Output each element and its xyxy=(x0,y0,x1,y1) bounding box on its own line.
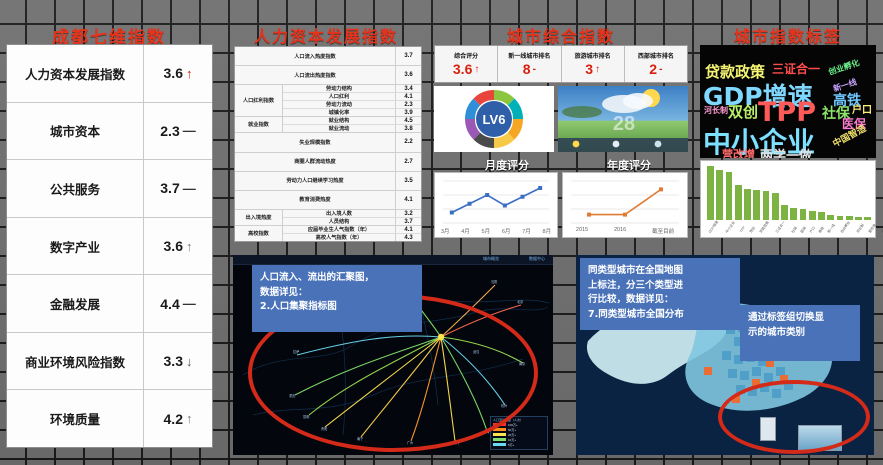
human-capital-value: 4.1 xyxy=(396,226,421,233)
panel-title-city-tags: 城市指数标签 xyxy=(700,23,876,47)
callout-tag-switch: 通过标签组切换显 示的城市类别 xyxy=(740,305,860,361)
bar-x-label: TPP xyxy=(739,226,747,234)
weather-temperature: 28 xyxy=(613,113,635,135)
bar-x-label: 医保 xyxy=(799,225,807,233)
bar-x-label: 高铁 xyxy=(817,225,825,233)
human-capital-group-rows: 应届毕业生人气指数（年）4.1高校人气指数（年）4.3 xyxy=(283,226,421,241)
human-capital-label: 就业结构 xyxy=(283,117,396,124)
x-axis-labels: 20152016截至目前 xyxy=(563,227,687,235)
human-capital-value: 4.5 xyxy=(396,117,421,124)
trend-flat-icon: - xyxy=(533,64,536,75)
data-point xyxy=(485,193,489,197)
kpi-number: 3 xyxy=(585,61,593,77)
word-cloud-tag[interactable]: 户口 xyxy=(852,101,872,116)
word-cloud-tag[interactable]: 三证合一 xyxy=(772,60,820,77)
kpi-header: 旅游城市排名 xyxy=(575,51,611,60)
human-capital-group: 出入境热度出入境人数3.2人员结构3.7 xyxy=(235,210,421,226)
chengdu-index-name: 数字产业 xyxy=(7,218,144,275)
chengdu-index-name: 公共服务 xyxy=(7,160,144,217)
bar-x-label: 双创 xyxy=(748,225,756,233)
trend-flat-icon: — xyxy=(183,297,196,310)
monthly-score-header: 月度评分 xyxy=(452,157,562,173)
chengdu-index-number: 3.7 xyxy=(160,180,179,196)
callout-migration-line1: 人口流入、流出的汇聚图， xyxy=(260,271,414,286)
bar-x-label: 新一线 xyxy=(826,223,836,234)
bar-x-label: 中小企业 xyxy=(724,220,736,234)
bar xyxy=(744,189,751,220)
data-point xyxy=(623,213,627,217)
series-line xyxy=(589,189,661,214)
level-badge-label: LV6 xyxy=(483,112,506,127)
trend-up-icon: ↑ xyxy=(474,64,479,75)
bar-x-label: GDP增速 xyxy=(707,219,719,233)
human-capital-row: 商圈人群流动热度2.7 xyxy=(235,153,421,172)
yearly-score-line-chart: 20152016截至目前 xyxy=(562,172,688,238)
word-cloud-tag[interactable]: 双创 xyxy=(728,101,758,122)
human-capital-label: 商圈人群流动热度 xyxy=(235,153,396,171)
human-capital-label: 教育消费热度 xyxy=(235,191,396,209)
trend-flat-icon: — xyxy=(183,124,196,137)
human-capital-group: 就业指数就业结构4.5就业流动3.8 xyxy=(235,117,421,133)
data-point xyxy=(521,195,525,199)
chengdu-index-row: 数字产业3.6↑ xyxy=(7,218,212,276)
human-capital-row: 教育消费热度4.1 xyxy=(235,191,421,210)
human-capital-label: 劳动力人口继续学习热度 xyxy=(235,172,396,190)
kpi-header: 综合评分 xyxy=(454,51,478,60)
kpi-value: 3↑ xyxy=(585,61,600,77)
human-capital-row: 劳动力人口继续学习热度3.5 xyxy=(235,172,421,191)
chengdu-index-value: 2.3— xyxy=(144,123,212,139)
kpi-value: 2- xyxy=(649,61,662,77)
bar xyxy=(753,190,760,220)
human-capital-value: 3.4 xyxy=(396,85,421,92)
legend-label: 50万+ xyxy=(508,428,516,432)
human-capital-group-name: 高校指数 xyxy=(235,226,283,241)
yearly-score-header: 年度评分 xyxy=(574,157,684,173)
chengdu-index-row: 人力资本发展指数3.6↑ xyxy=(7,45,212,103)
human-capital-value: 3.7 xyxy=(396,218,421,225)
kpi-cell: 新一线城市排名8- xyxy=(498,46,561,82)
monthly-score-line-chart: 3月4月5月6月7月8月 xyxy=(434,172,558,238)
chengdu-index-value: 4.4— xyxy=(144,296,212,312)
data-point xyxy=(587,213,591,217)
human-capital-value: 3.6 xyxy=(396,66,421,84)
human-capital-row: 应届毕业生人气指数（年）4.1 xyxy=(283,226,421,234)
human-capital-row: 劳动力结构3.4 xyxy=(283,85,421,93)
human-capital-label: 就业流动 xyxy=(283,125,396,132)
panel-title-city-composite: 城市综合指数 xyxy=(435,23,687,47)
bar xyxy=(809,211,816,220)
human-capital-group-rows: 出入境人数3.2人员结构3.7 xyxy=(283,210,421,225)
chengdu-index-value: 3.7— xyxy=(144,180,212,196)
x-tick-label: 2015 xyxy=(576,227,588,235)
callout-migration-line2: 数据详见： xyxy=(260,286,414,301)
legend-label: 10万+ xyxy=(508,438,516,442)
callout-tag-line2: 示的城市类别 xyxy=(748,326,852,341)
word-cloud-tag[interactable]: 创业孵化 xyxy=(827,57,861,77)
bar xyxy=(735,185,742,220)
bar-x-labels: GDP增速中小企业TPP双创贷款政策三证合一社保医保户口高铁新一线创业孵化河长制… xyxy=(707,231,871,236)
human-capital-row: 人口红利4.1 xyxy=(283,93,421,101)
legend-item: 5万+ xyxy=(491,442,547,447)
bar xyxy=(763,191,770,220)
human-capital-label: 人口红利 xyxy=(283,93,396,100)
trend-up-icon: ↑ xyxy=(186,67,193,80)
kpi-cell: 综合评分3.6↑ xyxy=(435,46,498,82)
kpi-header: 新一线城市排名 xyxy=(508,51,550,60)
bar xyxy=(800,209,807,220)
human-capital-row: 劳动力流动2.3 xyxy=(283,101,421,109)
kpi-cell: 西部城市排名2- xyxy=(625,46,687,82)
human-capital-label: 高校人气指数（年） xyxy=(283,234,396,241)
human-capital-value: 2.2 xyxy=(396,133,421,151)
human-capital-label: 人口流出热度指数 xyxy=(235,66,396,84)
human-capital-label: 失业规模指数 xyxy=(235,133,396,151)
callout-migration-line3: 2.人口集聚指标图 xyxy=(260,300,414,315)
svg-text:沈阳: 沈阳 xyxy=(491,279,497,284)
human-capital-index-table: 人口流入热度指数3.7人口流出热度指数3.6人口红利指数劳动力结构3.4人口红利… xyxy=(234,46,422,242)
word-cloud-tag[interactable]: 河长制 xyxy=(704,105,728,116)
human-capital-value: 4.1 xyxy=(396,93,421,100)
data-point xyxy=(468,202,472,206)
trend-flat-icon: — xyxy=(183,182,196,195)
x-tick-label: 4月 xyxy=(461,227,470,235)
chengdu-index-number: 3.6 xyxy=(164,238,183,254)
human-capital-label: 出入境人数 xyxy=(283,210,396,217)
chengdu-index-value: 3.6↑ xyxy=(144,65,212,81)
chengdu-index-row: 金融发展4.4— xyxy=(7,275,212,333)
chengdu-index-number: 4.2 xyxy=(164,411,183,427)
x-tick-label: 截至目前 xyxy=(652,227,674,235)
bar-x-label: 三证合一 xyxy=(774,220,786,234)
bar xyxy=(827,215,834,220)
human-capital-label: 人员结构 xyxy=(283,218,396,225)
chengdu-seven-dimension-table: 人力资本发展指数3.6↑城市资本2.3—公共服务3.7—数字产业3.6↑金融发展… xyxy=(6,44,213,448)
city-tag-word-cloud: 贷款政策三证合一创业孵化GDP增速新一线高铁河长制双创TPP社保户口医保中小企业… xyxy=(700,45,876,158)
human-capital-row: 人口流出热度指数3.6 xyxy=(235,66,421,85)
bar xyxy=(790,208,797,220)
callout-city-line3: 行比较，数据详见： xyxy=(588,293,732,308)
bar xyxy=(707,166,714,220)
human-capital-label: 城镇化率 xyxy=(283,109,396,116)
legend-swatch xyxy=(493,443,506,446)
callout-city-line4: 7.同类型城市全国分布 xyxy=(588,308,732,323)
bar-x-label: 社保 xyxy=(790,225,798,233)
human-capital-value: 2.3 xyxy=(396,101,421,108)
bar xyxy=(818,212,825,220)
human-capital-group: 人口红利指数劳动力结构3.4人口红利4.1劳动力流动2.3城镇化率3.9 xyxy=(235,85,421,117)
chengdu-index-row: 城市资本2.3— xyxy=(7,103,212,161)
bar xyxy=(772,193,779,220)
x-tick-label: 5月 xyxy=(482,227,491,235)
chengdu-index-name: 金融发展 xyxy=(7,275,144,332)
level-donut-chart: LV6 xyxy=(434,86,554,152)
x-axis-labels: 3月4月5月6月7月8月 xyxy=(435,227,557,235)
bar xyxy=(716,170,723,220)
human-capital-group-name: 出入境热度 xyxy=(235,210,283,225)
bar xyxy=(726,172,733,220)
human-capital-value: 3.9 xyxy=(396,109,421,116)
chengdu-index-name: 商业环境风险指数 xyxy=(7,333,144,390)
callout-city-line1: 同类型城市在全国地图 xyxy=(588,264,732,279)
bar-x-label: 贷款政策 xyxy=(758,220,770,234)
highlight-ellipse-right xyxy=(718,380,870,454)
human-capital-group-name: 就业指数 xyxy=(235,117,283,132)
kpi-value: 3.6↑ xyxy=(453,61,479,77)
human-capital-value: 3.5 xyxy=(396,172,421,190)
human-capital-value: 4.1 xyxy=(396,191,421,209)
chengdu-index-row: 公共服务3.7— xyxy=(7,160,212,218)
human-capital-value: 2.7 xyxy=(396,153,421,171)
callout-migration: 人口流入、流出的汇聚图， 数据详见： 2.人口集聚指标图 xyxy=(252,265,422,332)
x-tick-label: 2016 xyxy=(614,227,626,235)
human-capital-row: 高校人气指数（年）4.3 xyxy=(283,234,421,241)
trend-up-icon: ↑ xyxy=(186,412,193,425)
bar-x-label: 营改增 xyxy=(867,223,877,234)
weather-widget: 28 xyxy=(558,86,688,152)
bar-x-label: 户口 xyxy=(808,225,816,233)
kpi-header: 西部城市排名 xyxy=(638,51,674,60)
bar xyxy=(781,205,788,220)
trend-up-icon: ↑ xyxy=(595,64,600,75)
chengdu-index-name: 城市资本 xyxy=(7,103,144,160)
bar-x-label: 河长制 xyxy=(855,223,865,234)
chengdu-index-value: 3.3↓ xyxy=(144,353,212,369)
bar xyxy=(864,217,871,220)
chengdu-index-number: 4.4 xyxy=(160,296,179,312)
chengdu-index-name: 环境质量 xyxy=(7,390,144,447)
chengdu-index-name: 人力资本发展指数 xyxy=(7,45,144,102)
chengdu-index-row: 商业环境风险指数3.3↓ xyxy=(7,333,212,391)
human-capital-value: 3.8 xyxy=(396,125,421,132)
human-capital-value: 3.7 xyxy=(396,47,421,65)
legend-swatch xyxy=(493,433,506,436)
chengdu-index-row: 环境质量4.2↑ xyxy=(7,390,212,447)
legend-label: 20万+ xyxy=(508,433,516,437)
human-capital-group-rows: 就业结构4.5就业流动3.8 xyxy=(283,117,421,132)
data-point xyxy=(538,186,542,190)
tag-frequency-bar-chart: GDP增速中小企业TPP双创贷款政策三证合一社保医保户口高铁新一线创业孵化河长制… xyxy=(700,160,876,238)
data-point xyxy=(659,187,663,191)
callout-city-line2: 上标注，分三个类型进 xyxy=(588,279,732,294)
x-tick-label: 3月 xyxy=(441,227,450,235)
human-capital-label: 劳动力流动 xyxy=(283,101,396,108)
kpi-number: 8 xyxy=(523,61,531,77)
human-capital-row: 人员结构3.7 xyxy=(283,218,421,225)
chengdu-index-number: 3.3 xyxy=(164,353,183,369)
human-capital-row: 就业结构4.5 xyxy=(283,117,421,125)
word-cloud-tag[interactable]: 两学一做 xyxy=(760,145,812,158)
human-capital-label: 人口流入热度指数 xyxy=(235,47,396,65)
donut-svg: LV6 xyxy=(434,86,554,152)
city-composite-kpi-row: 综合评分3.6↑新一线城市排名8-旅游城市排名3↑西部城市排名2- xyxy=(434,45,688,83)
human-capital-label: 应届毕业生人气指数（年） xyxy=(283,226,396,233)
legend-swatch xyxy=(493,438,506,441)
panel-title-human-capital: 人力资本发展指数 xyxy=(230,23,422,47)
data-point xyxy=(503,204,507,208)
chengdu-index-value: 4.2↑ xyxy=(144,411,212,427)
callout-city-distribution: 同类型城市在全国地图 上标注，分三个类型进 行比较，数据详见： 7.同类型城市全… xyxy=(580,258,740,330)
human-capital-row: 城镇化率3.9 xyxy=(283,109,421,116)
chengdu-index-number: 2.3 xyxy=(160,123,179,139)
human-capital-row: 出入境人数3.2 xyxy=(283,210,421,218)
kpi-number: 2 xyxy=(649,61,657,77)
human-capital-row: 就业流动3.8 xyxy=(283,125,421,132)
bar xyxy=(855,217,862,220)
kpi-number: 3.6 xyxy=(453,61,472,77)
svg-text:北京: 北京 xyxy=(517,299,523,304)
kpi-value: 8- xyxy=(523,61,536,77)
bar xyxy=(837,216,844,220)
x-tick-label: 8月 xyxy=(543,227,552,235)
human-capital-group-rows: 劳动力结构3.4人口红利4.1劳动力流动2.3城镇化率3.9 xyxy=(283,85,421,116)
human-capital-row: 失业规模指数2.2 xyxy=(235,133,421,152)
trend-flat-icon: - xyxy=(659,64,662,75)
human-capital-value: 4.3 xyxy=(396,234,421,241)
human-capital-group-name: 人口红利指数 xyxy=(235,85,283,116)
x-tick-label: 7月 xyxy=(522,227,531,235)
x-tick-label: 6月 xyxy=(502,227,511,235)
word-cloud-tag[interactable]: 营改增 xyxy=(722,146,755,158)
human-capital-value: 3.2 xyxy=(396,210,421,217)
weather-svg: 28 xyxy=(558,86,688,152)
chengdu-index-value: 3.6↑ xyxy=(144,238,212,254)
legend-label: 100万+ xyxy=(508,423,518,427)
human-capital-group: 高校指数应届毕业生人气指数（年）4.1高校人气指数（年）4.3 xyxy=(235,226,421,241)
bar-series xyxy=(707,166,871,220)
chengdu-index-number: 3.6 xyxy=(164,65,183,81)
human-capital-row: 人口流入热度指数3.7 xyxy=(235,47,421,66)
human-capital-label: 劳动力结构 xyxy=(283,85,396,92)
callout-tag-line1: 通过标签组切换显 xyxy=(748,311,852,326)
legend-label: 5万+ xyxy=(508,443,514,447)
kpi-cell: 旅游城市排名3↑ xyxy=(562,46,625,82)
trend-up-icon: ↑ xyxy=(186,240,193,253)
data-point xyxy=(450,211,454,215)
bar-x-label: 创业孵化 xyxy=(839,220,851,234)
trend-down-icon: ↓ xyxy=(186,355,193,368)
